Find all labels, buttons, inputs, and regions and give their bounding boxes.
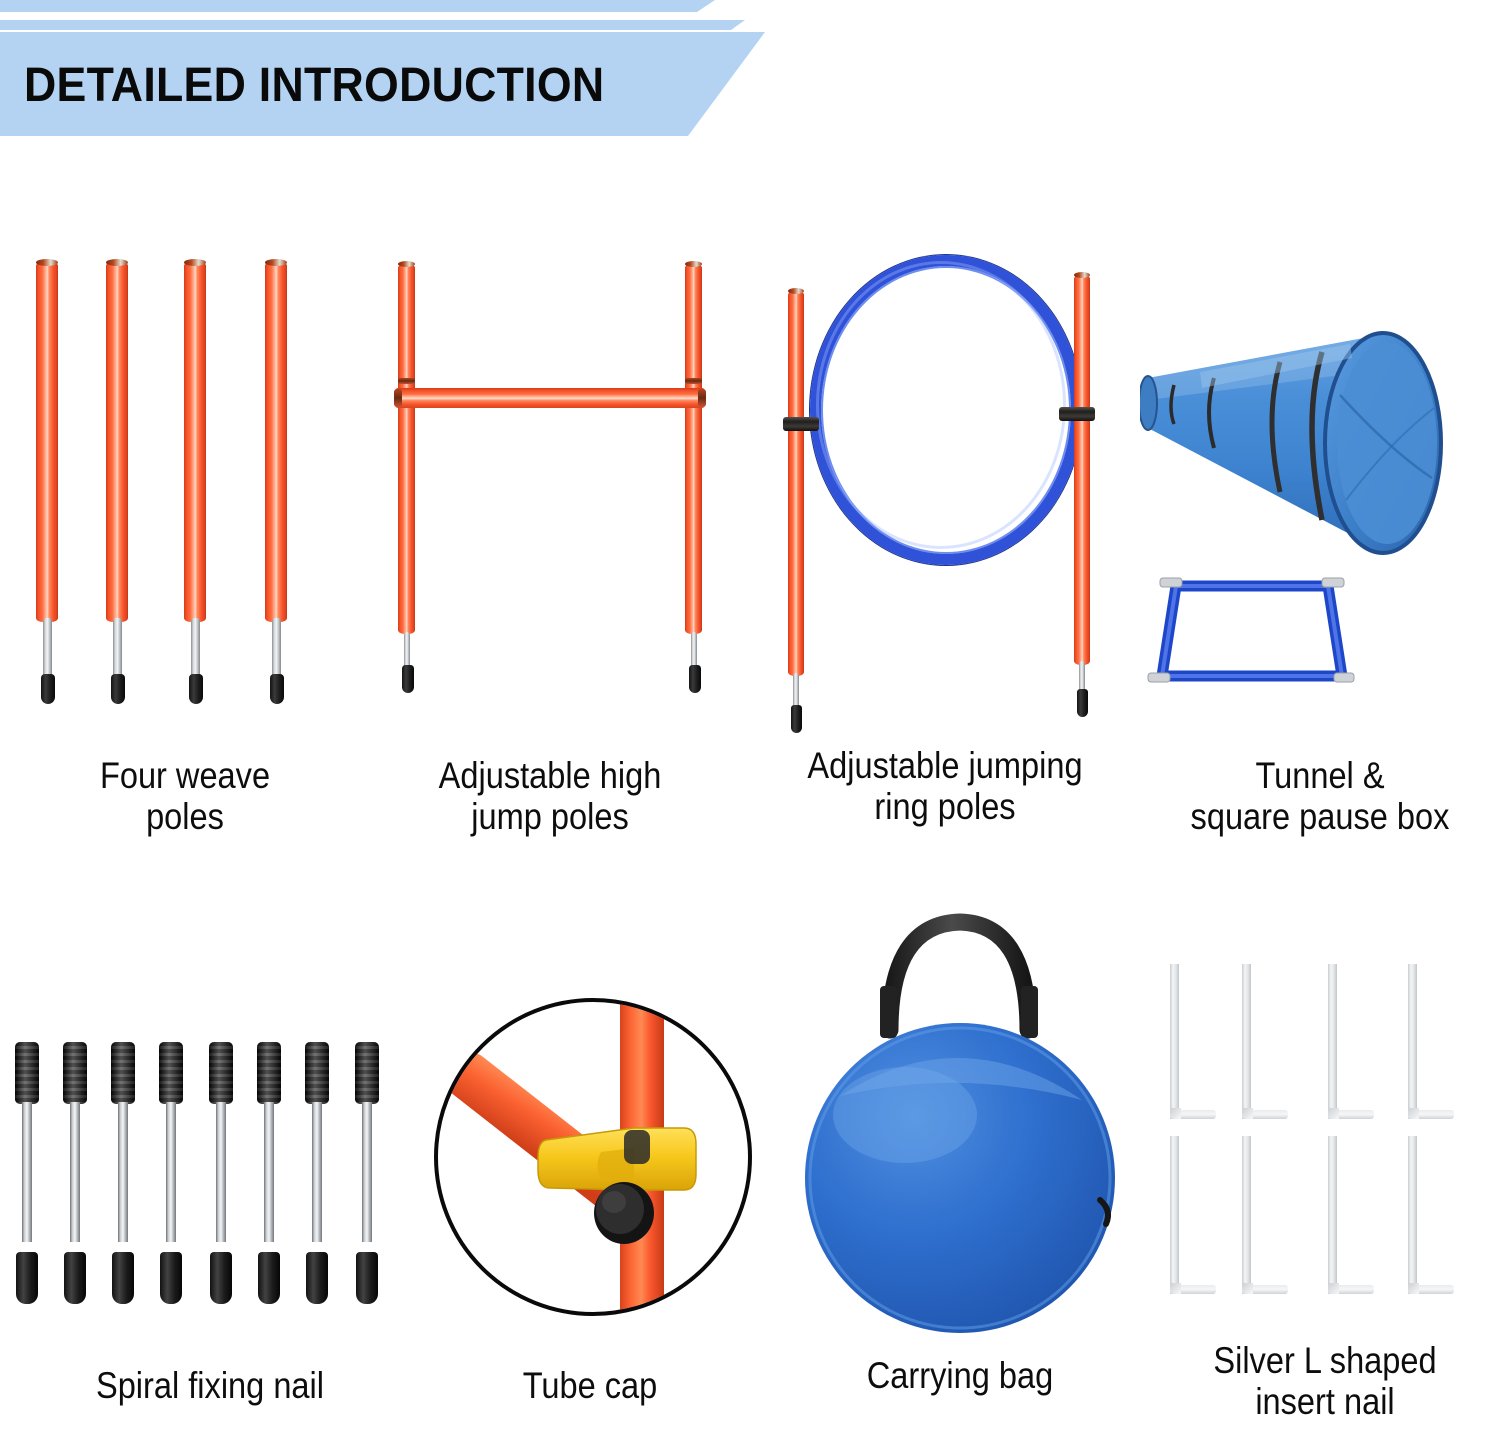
- jumping-ring-poles-illustration: [770, 245, 1120, 735]
- label-line: Adjustable jumping: [791, 745, 1099, 786]
- spiral-nail: [208, 1042, 234, 1304]
- banner-accent-strip-top: [0, 0, 715, 12]
- four-weave-poles-illustration: [20, 250, 350, 720]
- label-line: Silver L shaped: [1171, 1340, 1479, 1381]
- l-nail: [1328, 964, 1374, 1119]
- ring-clamp: [1059, 407, 1095, 421]
- spiral-nail: [256, 1042, 282, 1304]
- l-nail: [1170, 1136, 1216, 1294]
- page-title: DETAILED INTRODUCTION: [24, 46, 675, 124]
- l-shaped-insert-nail-illustration: [1150, 940, 1500, 1320]
- l-shaped-insert-nail-label: Silver L shaped insert nail: [1171, 1340, 1479, 1423]
- label-line: Carrying bag: [793, 1355, 1127, 1396]
- tube-cap-label: Tube cap: [440, 1365, 739, 1406]
- l-nail: [1328, 1136, 1374, 1294]
- crossbar-end-cap-right: [698, 389, 706, 407]
- label-line: Tunnel &: [1162, 755, 1479, 796]
- label-line: Spiral fixing nail: [25, 1365, 395, 1406]
- product-cell-adjustable-jumping-ring-poles: Adjustable jumping ring poles: [770, 245, 1120, 855]
- product-cell-spiral-fixing-nail: Spiral fixing nail: [0, 1020, 420, 1435]
- jumping-ring-poles-label: Adjustable jumping ring poles: [791, 745, 1099, 828]
- four-weave-poles-label: Four weave poles: [40, 755, 330, 838]
- spiral-nail: [158, 1042, 184, 1304]
- label-line: ring poles: [791, 786, 1099, 827]
- tunnel-and-pause-box-label: Tunnel & square pause box: [1162, 755, 1479, 838]
- product-cell-carrying-bag: Carrying bag: [770, 900, 1150, 1435]
- high-jump-poles-illustration: [380, 250, 720, 720]
- spiral-fixing-nail-label: Spiral fixing nail: [25, 1365, 395, 1406]
- spiral-nail: [62, 1042, 88, 1304]
- spiral-nail: [110, 1042, 136, 1304]
- product-cell-adjustable-high-jump-poles: Adjustable high jump poles: [380, 250, 720, 850]
- l-nail: [1242, 1136, 1288, 1294]
- label-line: Four weave: [40, 755, 330, 796]
- spiral-nail: [354, 1042, 380, 1304]
- label-line: jump poles: [400, 796, 699, 837]
- product-cell-four-weave-poles: Four weave poles: [20, 250, 350, 850]
- square-pause-box-icon: [1146, 572, 1356, 692]
- product-cell-silver-l-shaped-insert-nail: Silver L shaped insert nail: [1150, 940, 1500, 1435]
- high-jump-crossbar: [394, 388, 706, 408]
- tube-cap-detail-circle: [434, 998, 752, 1316]
- spiral-nail: [304, 1042, 330, 1304]
- l-nail: [1170, 964, 1216, 1119]
- tunnel-and-pause-box-illustration: [1140, 300, 1500, 720]
- agility-tunnel-icon: [1140, 300, 1500, 590]
- crossbar-end-cap-left: [394, 389, 402, 407]
- carrying-bag-label: Carrying bag: [793, 1355, 1127, 1396]
- ring-clamp: [783, 417, 819, 431]
- l-nail: [1242, 964, 1288, 1119]
- product-cell-tunnel-and-pause-box: Tunnel & square pause box: [1140, 300, 1500, 855]
- spiral-fixing-nail-illustration: [0, 1020, 420, 1310]
- tube-cap-joint-icon: [438, 1002, 748, 1312]
- high-jump-poles-label: Adjustable high jump poles: [400, 755, 699, 838]
- l-nail: [1408, 964, 1454, 1119]
- carrying-bag-icon: [770, 900, 1150, 1340]
- spiral-nail: [14, 1042, 40, 1304]
- label-line: square pause box: [1162, 796, 1479, 837]
- label-line: insert nail: [1171, 1381, 1479, 1422]
- l-nail: [1408, 1136, 1454, 1294]
- header-banner: DETAILED INTRODUCTION: [0, 0, 1500, 150]
- banner-accent-strip-second: [0, 20, 745, 30]
- label-line: Adjustable high: [400, 755, 699, 796]
- label-line: poles: [40, 796, 330, 837]
- label-line: Tube cap: [440, 1365, 739, 1406]
- jumping-ring-highlight: [816, 261, 1066, 549]
- product-cell-tube-cap: Tube cap: [420, 980, 760, 1435]
